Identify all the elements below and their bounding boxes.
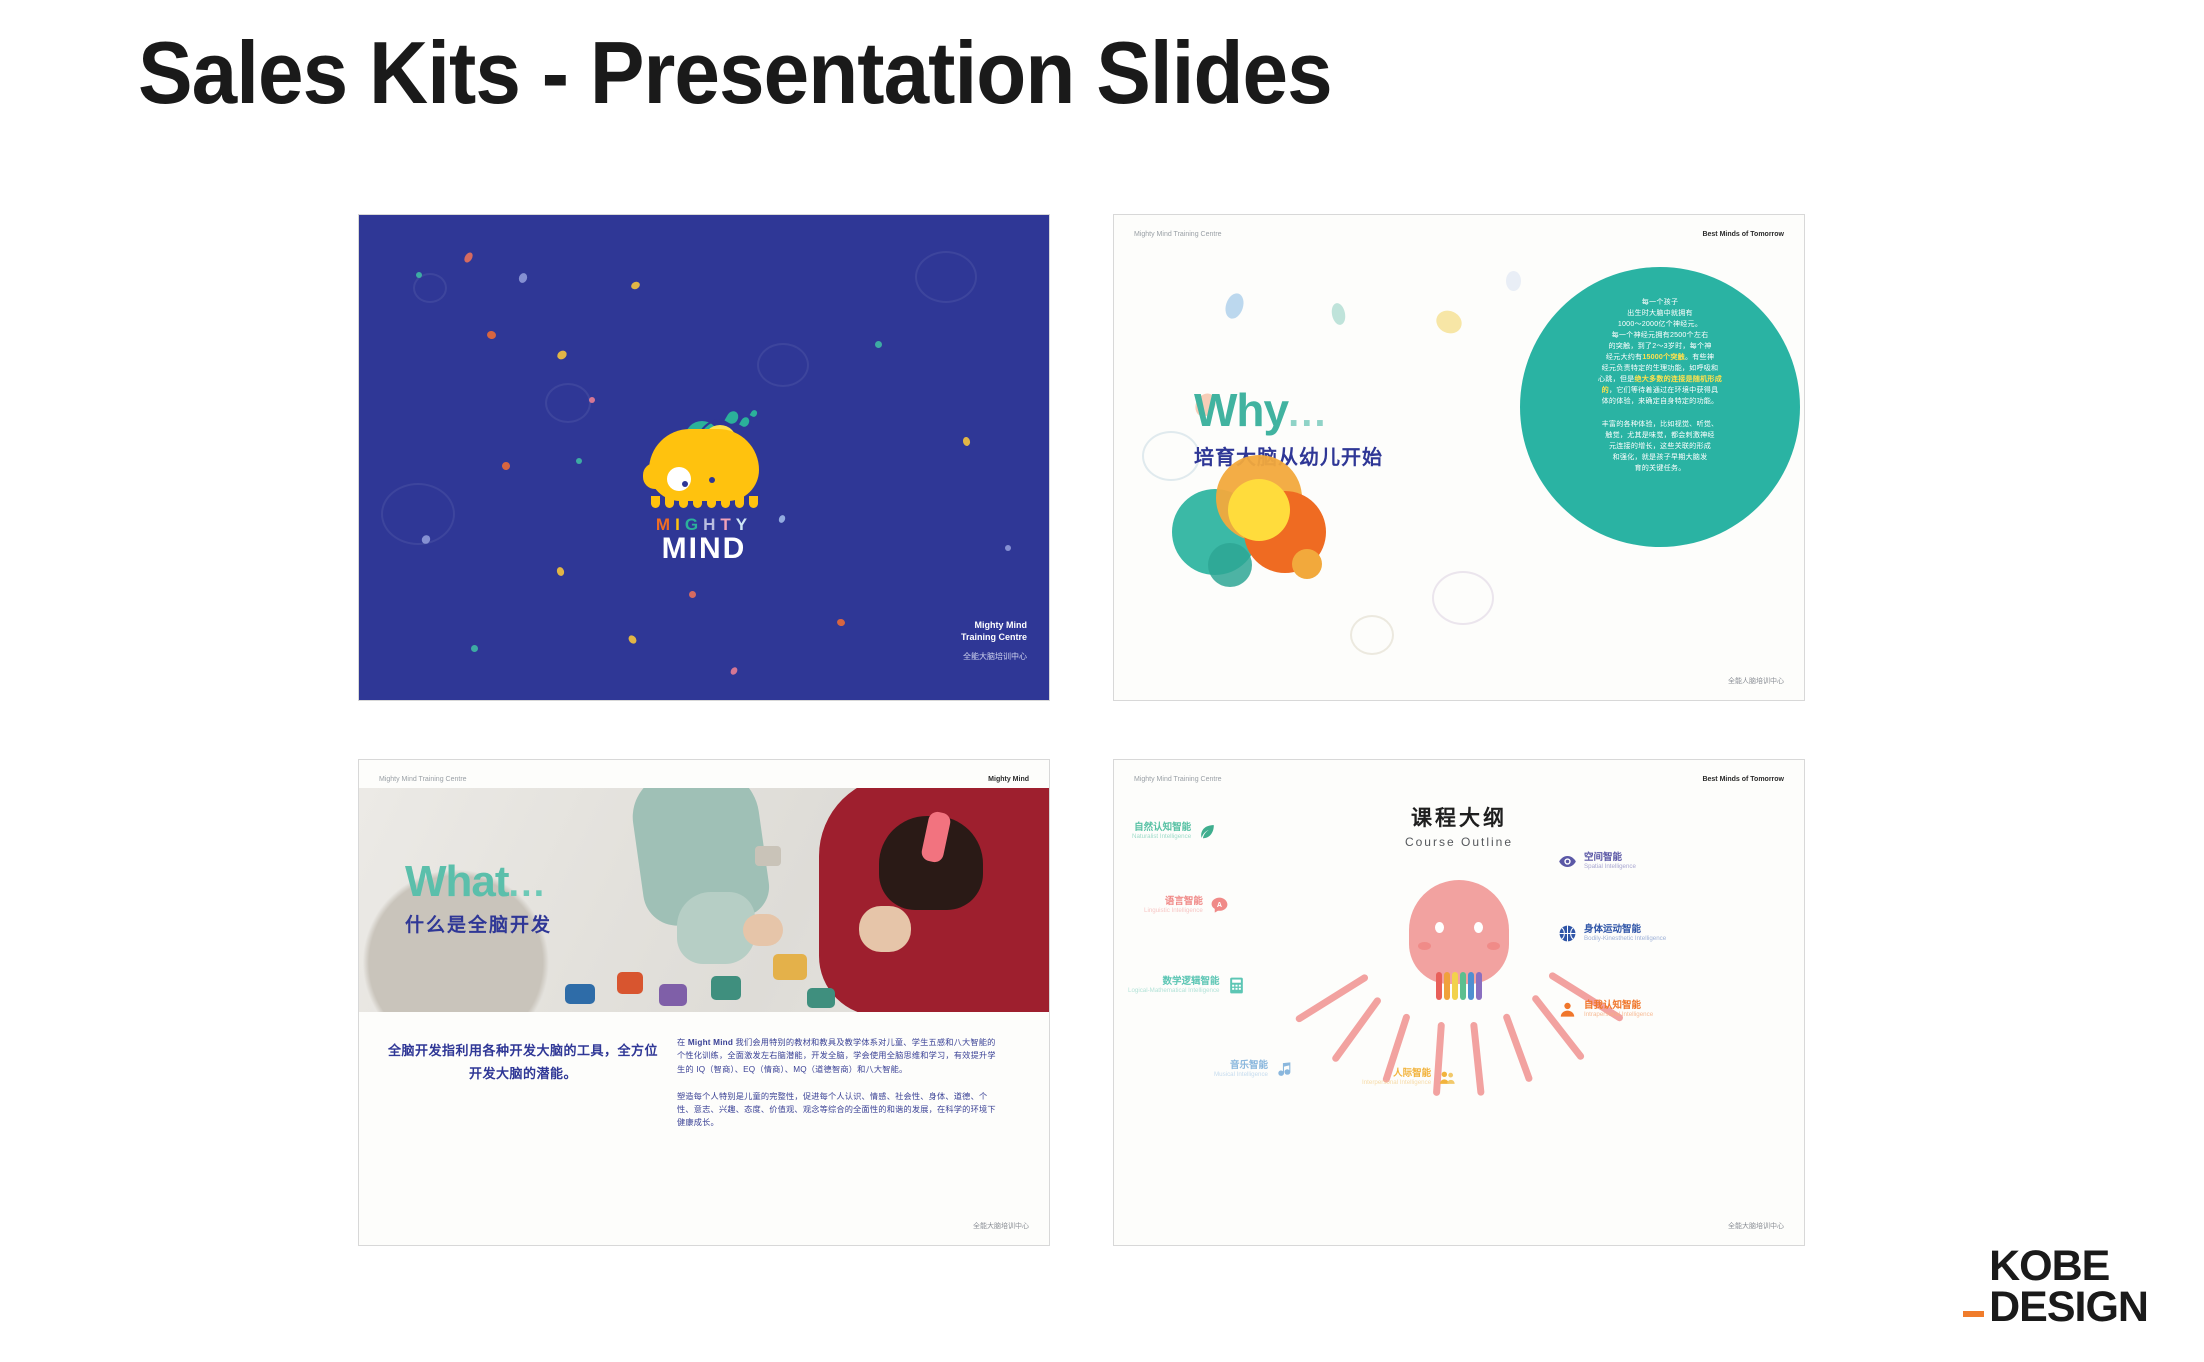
cover-background: MIGHTY MIND Mighty Mind Training Centre … <box>359 215 1049 700</box>
confetti-dot <box>962 436 971 447</box>
photo-hand <box>859 906 911 952</box>
label-text: 空间智能 Spatial Intelligence <box>1584 852 1636 871</box>
why-paragraph: 丰富的各种体验，比如视觉、听觉、 触觉，尤其是味觉，都会刺激神经 元连接的增长，… <box>1546 419 1774 474</box>
label-text: 语言智能 Linguistic Intelligence <box>1144 896 1203 915</box>
label-text: 人际智能 Interpersonal Intelligence <box>1362 1068 1431 1087</box>
intelligence-label-spatial[interactable]: 空间智能 Spatial Intelligence <box>1558 852 1636 871</box>
photo-block <box>755 846 781 866</box>
mighty-mind-logo: MIGHTY MIND <box>614 411 794 564</box>
photo-block <box>807 988 835 1008</box>
decor-blob <box>1506 271 1521 291</box>
slide-title: 课程大纲 Course Outline <box>1114 802 1804 849</box>
kobe-design-logo: KOBE DESIGN <box>1989 1246 2148 1328</box>
brand-line-1: KOBE <box>1989 1246 2148 1287</box>
body-right-copy: 在 Might Mind 我们会用特别的教材和教具及教学体系对儿童、学生五感和八… <box>677 1036 997 1130</box>
confetti-dot <box>416 272 422 278</box>
decor-ring <box>757 343 809 387</box>
label-en: Spatial Intelligence <box>1584 863 1636 871</box>
intelligence-label-linguistic[interactable]: A 语言智能 Linguistic Intelligence <box>1144 896 1229 915</box>
photo-block <box>617 972 643 994</box>
speech-a-icon: A <box>1210 896 1229 915</box>
label-en: Logical-Mathematical Intelligence <box>1128 987 1220 995</box>
person-icon <box>1558 1000 1577 1019</box>
label-en: Interpersonal Intelligence <box>1362 1079 1431 1087</box>
paragraph-prefix: 在 <box>677 1038 688 1047</box>
art-circle <box>1292 549 1322 579</box>
heading-dots: ... <box>1288 391 1327 435</box>
label-en: Bodily-Kinesthetic Intelligence <box>1584 935 1666 943</box>
label-en: Linguistic Intelligence <box>1144 907 1203 915</box>
mascot-eye <box>667 467 691 491</box>
orange-dash-icon <box>1963 1311 1984 1317</box>
confetti-dot <box>518 272 529 284</box>
octopus-arm <box>1470 1022 1485 1096</box>
label-text: 数学逻辑智能 Logical-Mathematical Intelligence <box>1128 976 1220 995</box>
confetti-dot <box>875 341 882 348</box>
heading-cn: 什么是全脑开发 <box>405 910 552 937</box>
confetti-dot <box>463 251 475 264</box>
photo-block <box>565 984 595 1004</box>
title-en: Course Outline <box>1114 835 1804 849</box>
heading-en-text: What <box>405 857 509 906</box>
decor-blob <box>1330 302 1347 326</box>
art-circle <box>1228 479 1290 541</box>
label-cn: 自我认知智能 <box>1584 1000 1653 1011</box>
logo-wordmark-mind: MIND <box>614 535 794 564</box>
slide-footer-right: 全能大脑培训中心 <box>973 1221 1029 1231</box>
confetti-dot <box>471 645 478 652</box>
label-cn: 音乐智能 <box>1214 1060 1268 1071</box>
confetti-dot <box>627 634 638 645</box>
body-paragraph: 在 Might Mind 我们会用特别的教材和教具及教学体系对儿童、学生五感和八… <box>677 1036 997 1076</box>
label-text: 身体运动智能 Bodily-Kinesthetic Intelligence <box>1584 924 1666 943</box>
slide-thumbnail-cover[interactable]: MIGHTY MIND Mighty Mind Training Centre … <box>358 214 1050 701</box>
slide-heading: What... 什么是全脑开发 <box>405 860 552 937</box>
mascot-eye <box>709 477 715 483</box>
body-paragraph: 塑造每个人特别是儿童的完整性，促进每个人认识、情感、社会性、身体、道德、个性、意… <box>677 1090 997 1130</box>
why-body-text: 每一个孩子出生时大脑中就拥有1000～2000亿个神经元。 每一个神经元拥有25… <box>1546 297 1774 474</box>
heading-dots: ... <box>509 863 547 905</box>
presentation-portfolio-page: Sales Kits - Presentation Slides <box>0 0 2204 1362</box>
decor-ring <box>915 251 977 303</box>
slide-header-right: Mighty Mind <box>988 776 1029 783</box>
intelligence-label-bodily-kinesthetic[interactable]: 身体运动智能 Bodily-Kinesthetic Intelligence <box>1558 924 1666 943</box>
octopus-head <box>1409 880 1509 984</box>
slide-footer-right: 全能人脑培训中心 <box>1728 676 1784 686</box>
confetti-dot <box>589 397 595 403</box>
classroom-photo: What... 什么是全脑开发 <box>359 788 1050 1012</box>
label-cn: 语言智能 <box>1144 896 1203 907</box>
decor-ring <box>545 383 591 423</box>
confetti-dot <box>556 566 566 577</box>
decor-ring <box>381 483 455 545</box>
title-cn: 课程大纲 <box>1114 802 1804 832</box>
label-text: 自然认知智能 Naturalist Intelligence <box>1132 822 1191 841</box>
droplet-icon <box>750 409 759 418</box>
intelligence-label-logical-mathematical[interactable]: 数学逻辑智能 Logical-Mathematical Intelligence <box>1128 976 1246 995</box>
decor-ring <box>1432 571 1494 625</box>
confetti-dot <box>576 458 582 464</box>
slide-header-right: Best Minds of Tomorrow <box>1702 776 1784 783</box>
rainbow-stripes-icon <box>1436 972 1482 1000</box>
photo-block <box>773 954 807 980</box>
mascot-trunk <box>643 463 665 489</box>
label-en: Naturalist Intelligence <box>1132 833 1191 841</box>
slide-footer-right: 全能大脑培训中心 <box>1728 1221 1784 1231</box>
confetti-dot <box>501 461 512 472</box>
why-paragraph: 每一个孩子出生时大脑中就拥有1000～2000亿个神经元。 每一个神经元拥有25… <box>1546 297 1774 407</box>
cover-footer: Mighty Mind Training Centre 全能大脑培训中心 <box>961 619 1027 662</box>
octopus-arm <box>1331 996 1383 1063</box>
slide-header-right: Best Minds of Tomorrow <box>1702 231 1784 238</box>
body-left-statement: 全脑开发指利用各种开发大脑的工具，全方位开发大脑的潜能。 <box>387 1040 659 1086</box>
slide-background: Mighty Mind Training Centre Mighty Mind <box>359 760 1049 1245</box>
confetti-dot <box>630 280 641 290</box>
label-en: Intrapersonal Intelligence <box>1584 1011 1653 1019</box>
brand-line-2: DESIGN <box>1989 1287 2148 1328</box>
slide-header-left: Mighty Mind Training Centre <box>379 776 467 783</box>
label-cn: 自然认知智能 <box>1132 822 1191 833</box>
mascot-body <box>649 429 759 501</box>
mighty-mind-elephant-mascot-icon <box>641 411 767 507</box>
decor-blob <box>1433 307 1466 338</box>
decorative-illustration <box>1172 445 1392 625</box>
music-note-icon <box>1275 1060 1294 1079</box>
label-cn: 数学逻辑智能 <box>1128 976 1220 987</box>
photo-block <box>659 984 687 1006</box>
mascot-legs <box>651 496 759 508</box>
label-cn: 空间智能 <box>1584 852 1636 863</box>
octopus-cheek <box>1418 942 1431 950</box>
confetti-dot <box>1005 545 1011 551</box>
photo-block <box>711 976 741 1000</box>
footer-cn: 全能大脑培训中心 <box>961 651 1027 662</box>
leaf-icon <box>1198 822 1217 841</box>
label-cn: 人际智能 <box>1362 1068 1431 1079</box>
page-title: Sales Kits - Presentation Slides <box>138 22 1332 124</box>
label-text: 自我认知智能 Intrapersonal Intelligence <box>1584 1000 1653 1019</box>
why-text-circle: 每一个孩子出生时大脑中就拥有1000～2000亿个神经元。 每一个神经元拥有25… <box>1520 267 1800 547</box>
eye-icon <box>1558 852 1577 871</box>
footer-en-line2: Training Centre <box>961 631 1027 643</box>
heading-en: What... <box>405 860 552 904</box>
brand-mention: Might Mind <box>688 1038 733 1047</box>
octopus-cheek <box>1487 942 1500 950</box>
photo-hand <box>743 914 783 946</box>
slide-thumbnail-what[interactable]: Mighty Mind Training Centre Mighty Mind <box>358 759 1050 1246</box>
slide-thumbnail-course-outline[interactable]: Mighty Mind Training Centre Best Minds o… <box>1113 759 1805 1246</box>
confetti-dot <box>689 591 696 598</box>
slide-background: Mighty Mind Training Centre Best Minds o… <box>1114 760 1804 1245</box>
intelligence-label-intrapersonal[interactable]: 自我认知智能 Intrapersonal Intelligence <box>1558 1000 1653 1019</box>
octopus-arm <box>1502 1013 1533 1083</box>
people-icon <box>1438 1068 1457 1087</box>
heading-en-text: Why <box>1194 384 1288 436</box>
decor-blob <box>1222 291 1246 321</box>
svg-text:A: A <box>1217 901 1222 909</box>
label-en: Musical Intelligence <box>1214 1071 1268 1079</box>
intelligence-label-naturalist[interactable]: 自然认知智能 Naturalist Intelligence <box>1132 822 1217 841</box>
label-text: 音乐智能 Musical Intelligence <box>1214 1060 1268 1079</box>
confetti-dot <box>729 666 739 676</box>
basketball-icon <box>1558 924 1577 943</box>
heading-en: Why... <box>1194 387 1383 433</box>
slide-background: Mighty Mind Training Centre Best Minds o… <box>1114 215 1804 700</box>
octopus-arm <box>1294 973 1369 1023</box>
slide-header-left: Mighty Mind Training Centre <box>1134 776 1222 783</box>
calculator-icon <box>1227 976 1246 995</box>
footer-en-line1: Mighty Mind <box>961 619 1027 631</box>
confetti-dot <box>836 618 846 627</box>
intelligence-label-interpersonal[interactable]: 人际智能 Interpersonal Intelligence <box>1362 1068 1457 1087</box>
slide-header-left: Mighty Mind Training Centre <box>1134 231 1222 238</box>
slide-thumbnail-why[interactable]: Mighty Mind Training Centre Best Minds o… <box>1113 214 1805 701</box>
label-cn: 身体运动智能 <box>1584 924 1666 935</box>
confetti-dot <box>486 330 497 340</box>
confetti-dot <box>556 349 569 361</box>
art-circle <box>1208 543 1252 587</box>
intelligence-label-musical[interactable]: 音乐智能 Musical Intelligence <box>1214 1060 1294 1079</box>
droplet-icon <box>739 416 751 429</box>
